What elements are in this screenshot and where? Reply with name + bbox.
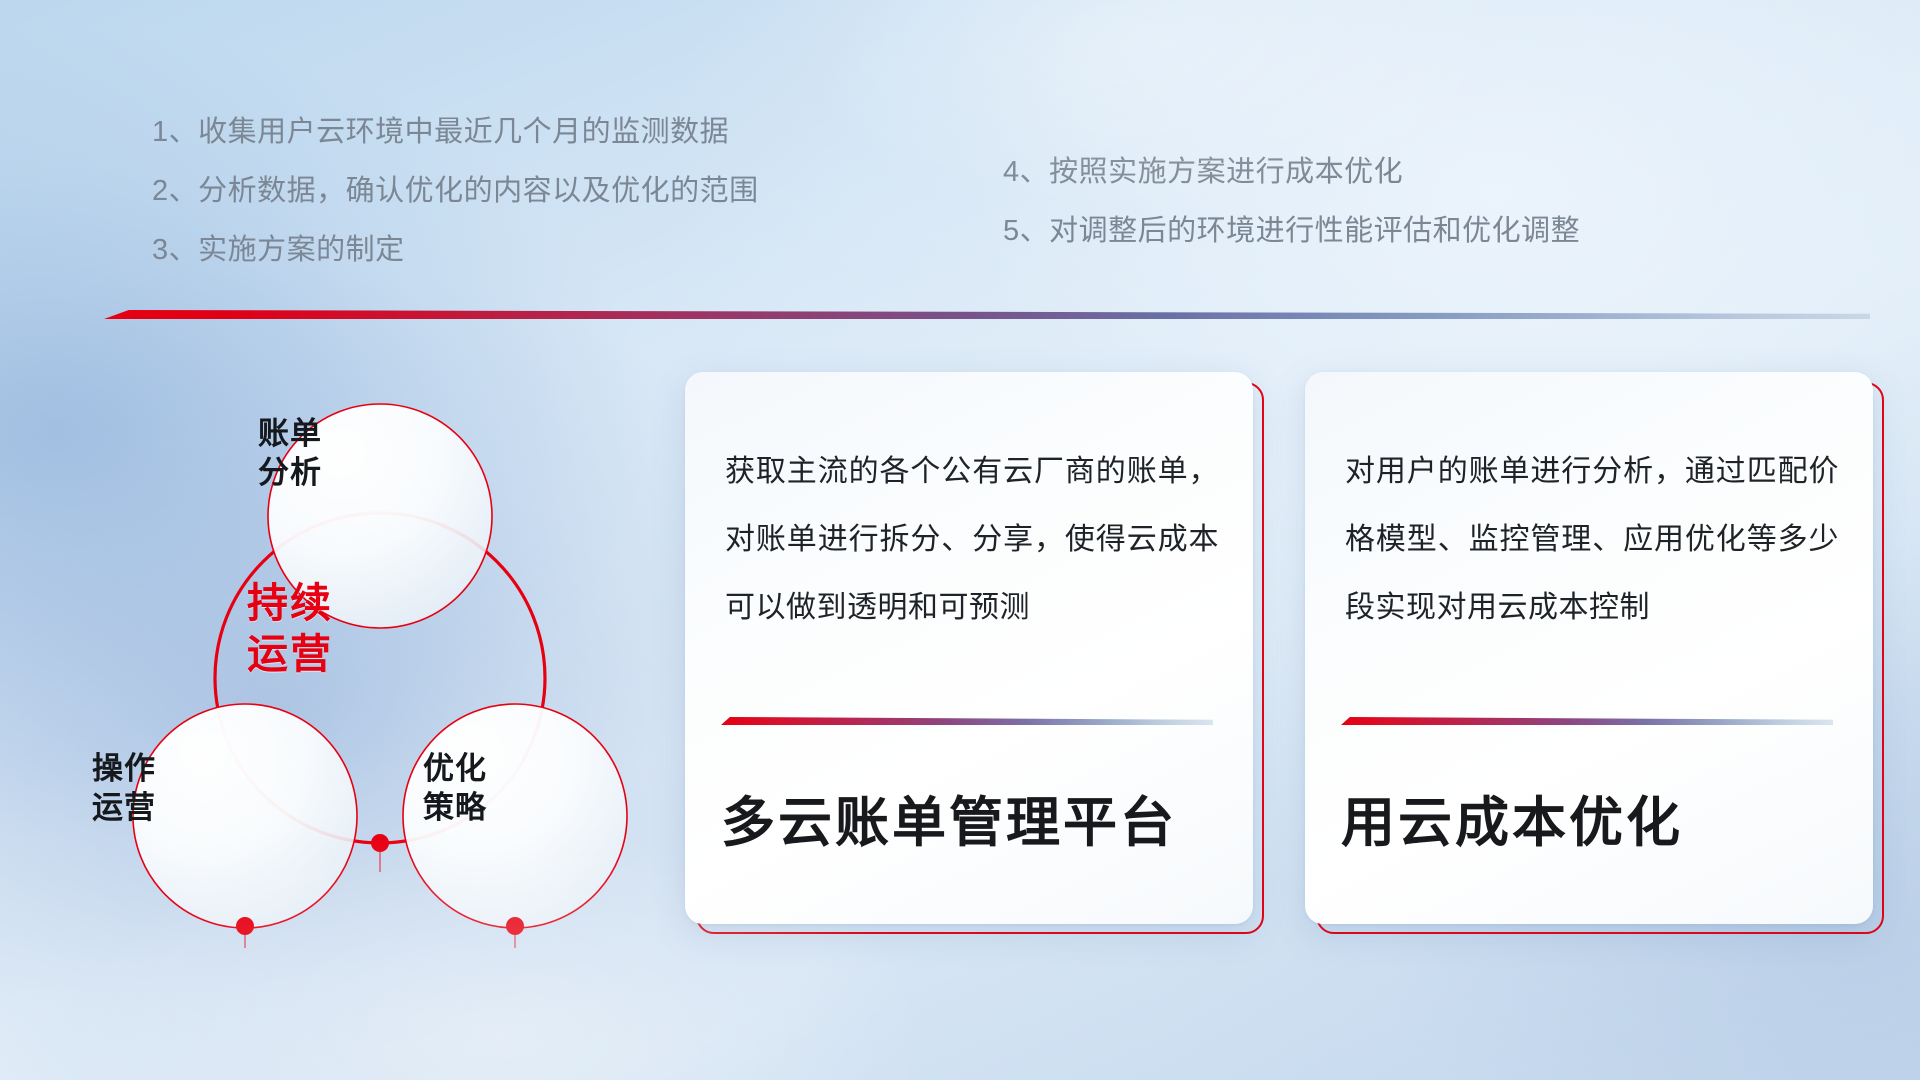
card-title: 用云成本优化 (1341, 778, 1683, 857)
steps-right-column: 4、按照实施方案进行成本优化 5、对调整后的环境进行性能评估和优化调整 (1003, 158, 1580, 246)
node-dot-top (371, 834, 389, 852)
node-dot-right (506, 917, 524, 935)
card-body-text: 对用户的账单进行分析，通过匹配价格模型、监控管理、应用优化等多少段实现对用云成本… (1345, 438, 1839, 642)
card-body-text: 获取主流的各个公有云厂商的账单，对账单进行拆分、分享，使得云成本可以做到透明和可… (725, 438, 1219, 642)
step-item-1: 1、收集用户云环境中最近几个月的监测数据 (152, 118, 759, 147)
diagram-center-label: 持续 运营 (175, 578, 405, 681)
diagram-node-label-top: 账单 分析 (200, 415, 380, 493)
feature-card-cost-optimization[interactable]: 对用户的账单进行分析，通过匹配价格模型、监控管理、应用优化等多少段实现对用云成本… (1316, 382, 1884, 934)
step-item-4: 4、按照实施方案进行成本优化 (1003, 158, 1580, 187)
step-item-5: 5、对调整后的环境进行性能评估和优化调整 (1003, 217, 1580, 246)
feature-card-billing-platform[interactable]: 获取主流的各个公有云厂商的账单，对账单进行拆分、分享，使得云成本可以做到透明和可… (696, 382, 1264, 934)
node-dot-left (236, 917, 254, 935)
section-divider-rule (104, 310, 1870, 319)
diagram-node-label-left: 操作 运营 (34, 750, 214, 828)
steps-left-column: 1、收集用户云环境中最近几个月的监测数据 2、分析数据，确认优化的内容以及优化的… (152, 118, 759, 265)
card-divider-rule (1341, 717, 1833, 725)
step-item-3: 3、实施方案的制定 (152, 236, 759, 265)
card-title: 多云账单管理平台 (721, 778, 1177, 857)
step-item-2: 2、分析数据，确认优化的内容以及优化的范围 (152, 177, 759, 206)
card-divider-rule (721, 717, 1213, 725)
card-surface: 获取主流的各个公有云厂商的账单，对账单进行拆分、分享，使得云成本可以做到透明和可… (685, 372, 1253, 924)
card-surface: 对用户的账单进行分析，通过匹配价格模型、监控管理、应用优化等多少段实现对用云成本… (1305, 372, 1873, 924)
diagram-node-label-right: 优化 策略 (365, 750, 545, 828)
slide-root: 1、收集用户云环境中最近几个月的监测数据 2、分析数据，确认优化的内容以及优化的… (0, 0, 1920, 1080)
